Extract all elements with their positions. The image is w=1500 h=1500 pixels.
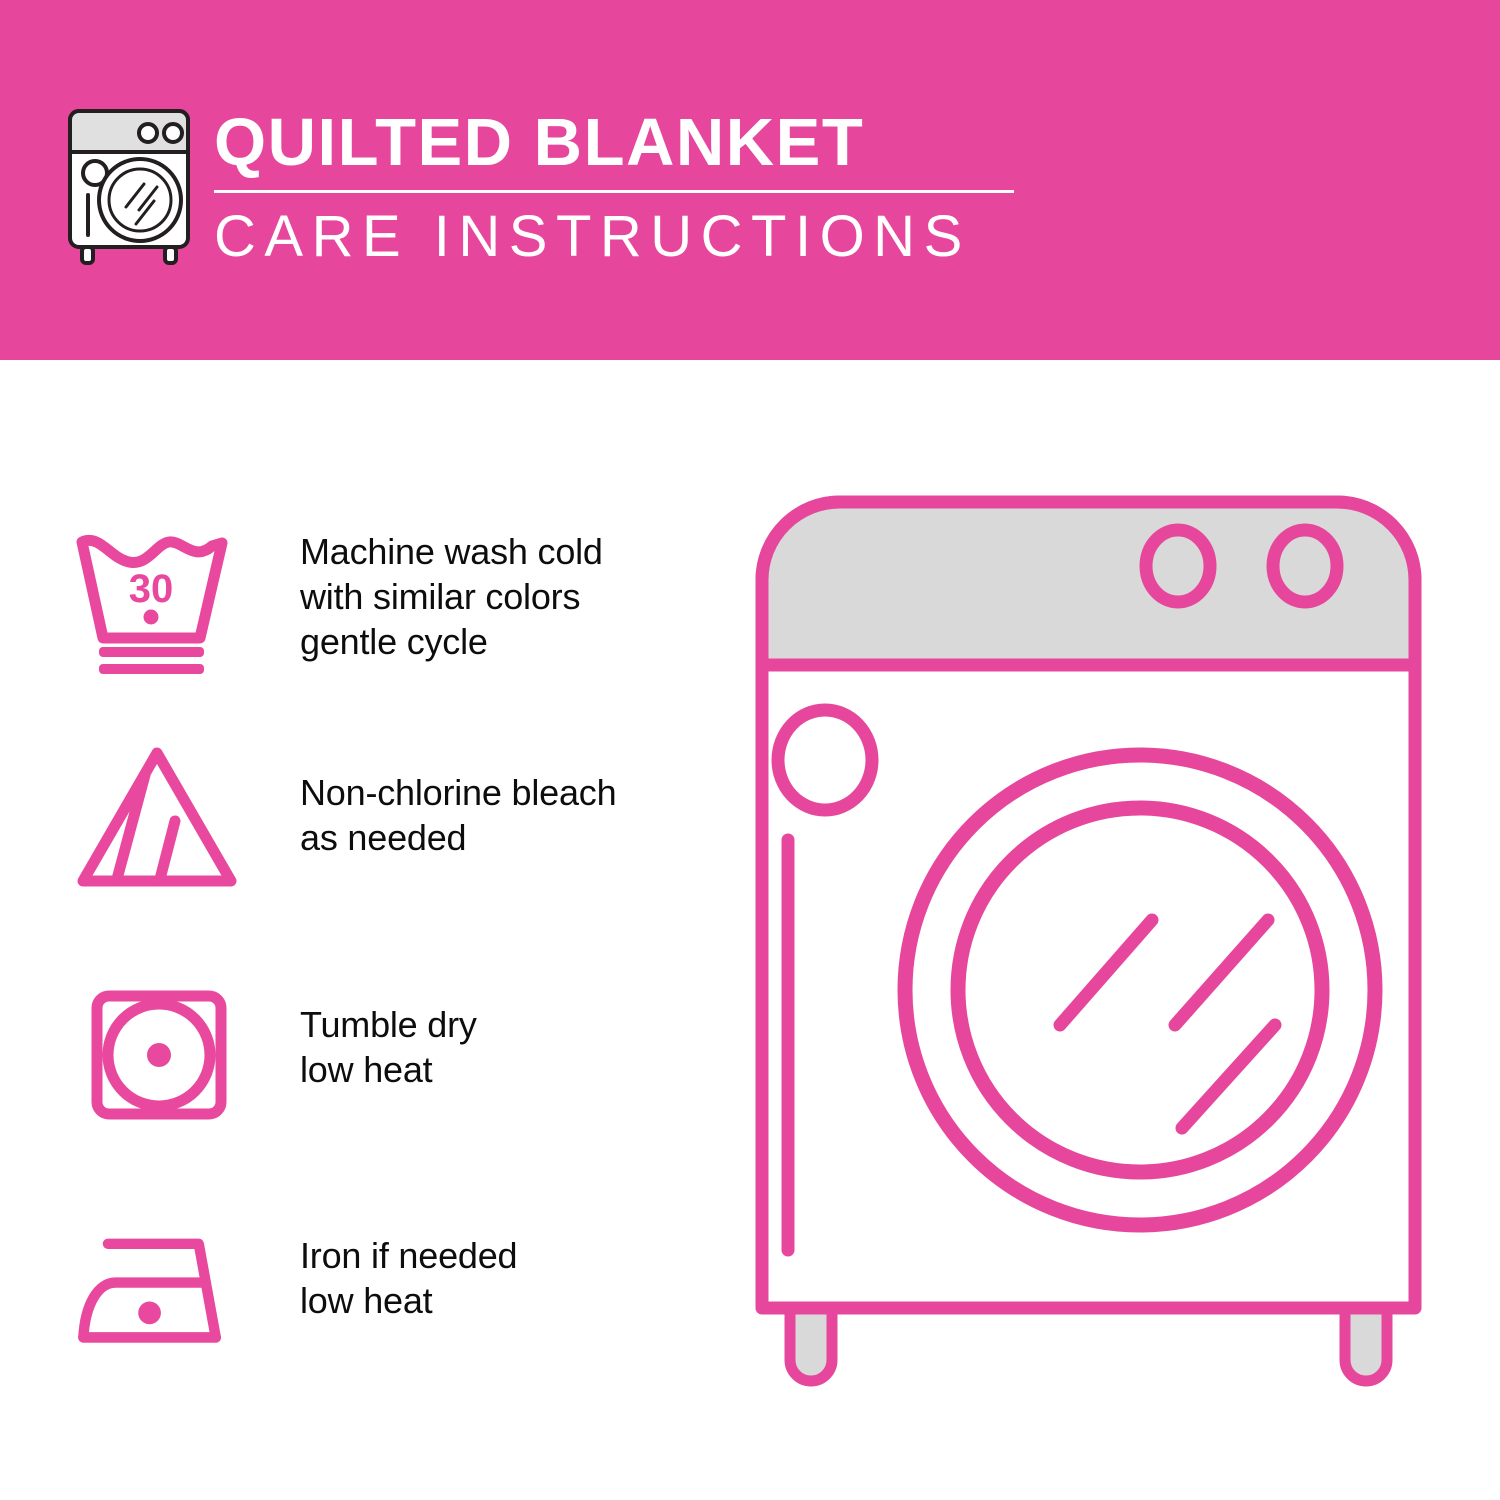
title-divider [214,190,1014,193]
tumble-dry-dot-marker [147,1043,171,1067]
care-label-tumble-dry: Tumble dry low heat [300,1002,477,1092]
detergent-dispenser-circle [778,710,872,810]
wash-temperature-label: 30 [129,567,174,611]
care-label-iron: Iron if needed low heat [300,1233,517,1323]
washing-machine-icon [64,105,194,265]
care-row-machine-wash: 30 Machine wash cold with similar colors… [0,515,740,715]
care-row-iron: Iron if needed low heat [0,1195,740,1395]
knob-left [1146,530,1210,602]
door-inner-ring [958,808,1322,1172]
tumble-dry-low-icon [72,965,247,1140]
header-banner: QUILTED BLANKET CARE INSTRUCTIONS [0,0,1500,360]
non-chlorine-bleach-triangle-icon [72,730,247,905]
wash-tub-30-icon: 30 [72,515,247,690]
knob-right [1273,530,1337,602]
care-instructions-infographic: QUILTED BLANKET CARE INSTRUCTIONS [0,0,1500,1500]
care-label-bleach: Non-chlorine bleach as needed [300,770,616,860]
care-instruction-list: 30 Machine wash cold with similar colors… [0,360,740,1500]
care-row-bleach: Non-chlorine bleach as needed [0,730,740,930]
front-load-washing-machine-illustration [740,480,1460,1440]
page-title: QUILTED BLANKET [214,104,1034,182]
header-text-block: QUILTED BLANKET CARE INSTRUCTIONS [214,104,1034,270]
iron-dot-marker [138,1301,161,1324]
care-row-tumble-dry: Tumble dry low heat [0,965,740,1165]
page-subtitle: CARE INSTRUCTIONS [214,204,1034,270]
wash-dot-marker [144,609,159,624]
care-label-machine-wash: Machine wash cold with similar colors ge… [300,529,603,664]
iron-low-heat-icon [72,1205,247,1380]
